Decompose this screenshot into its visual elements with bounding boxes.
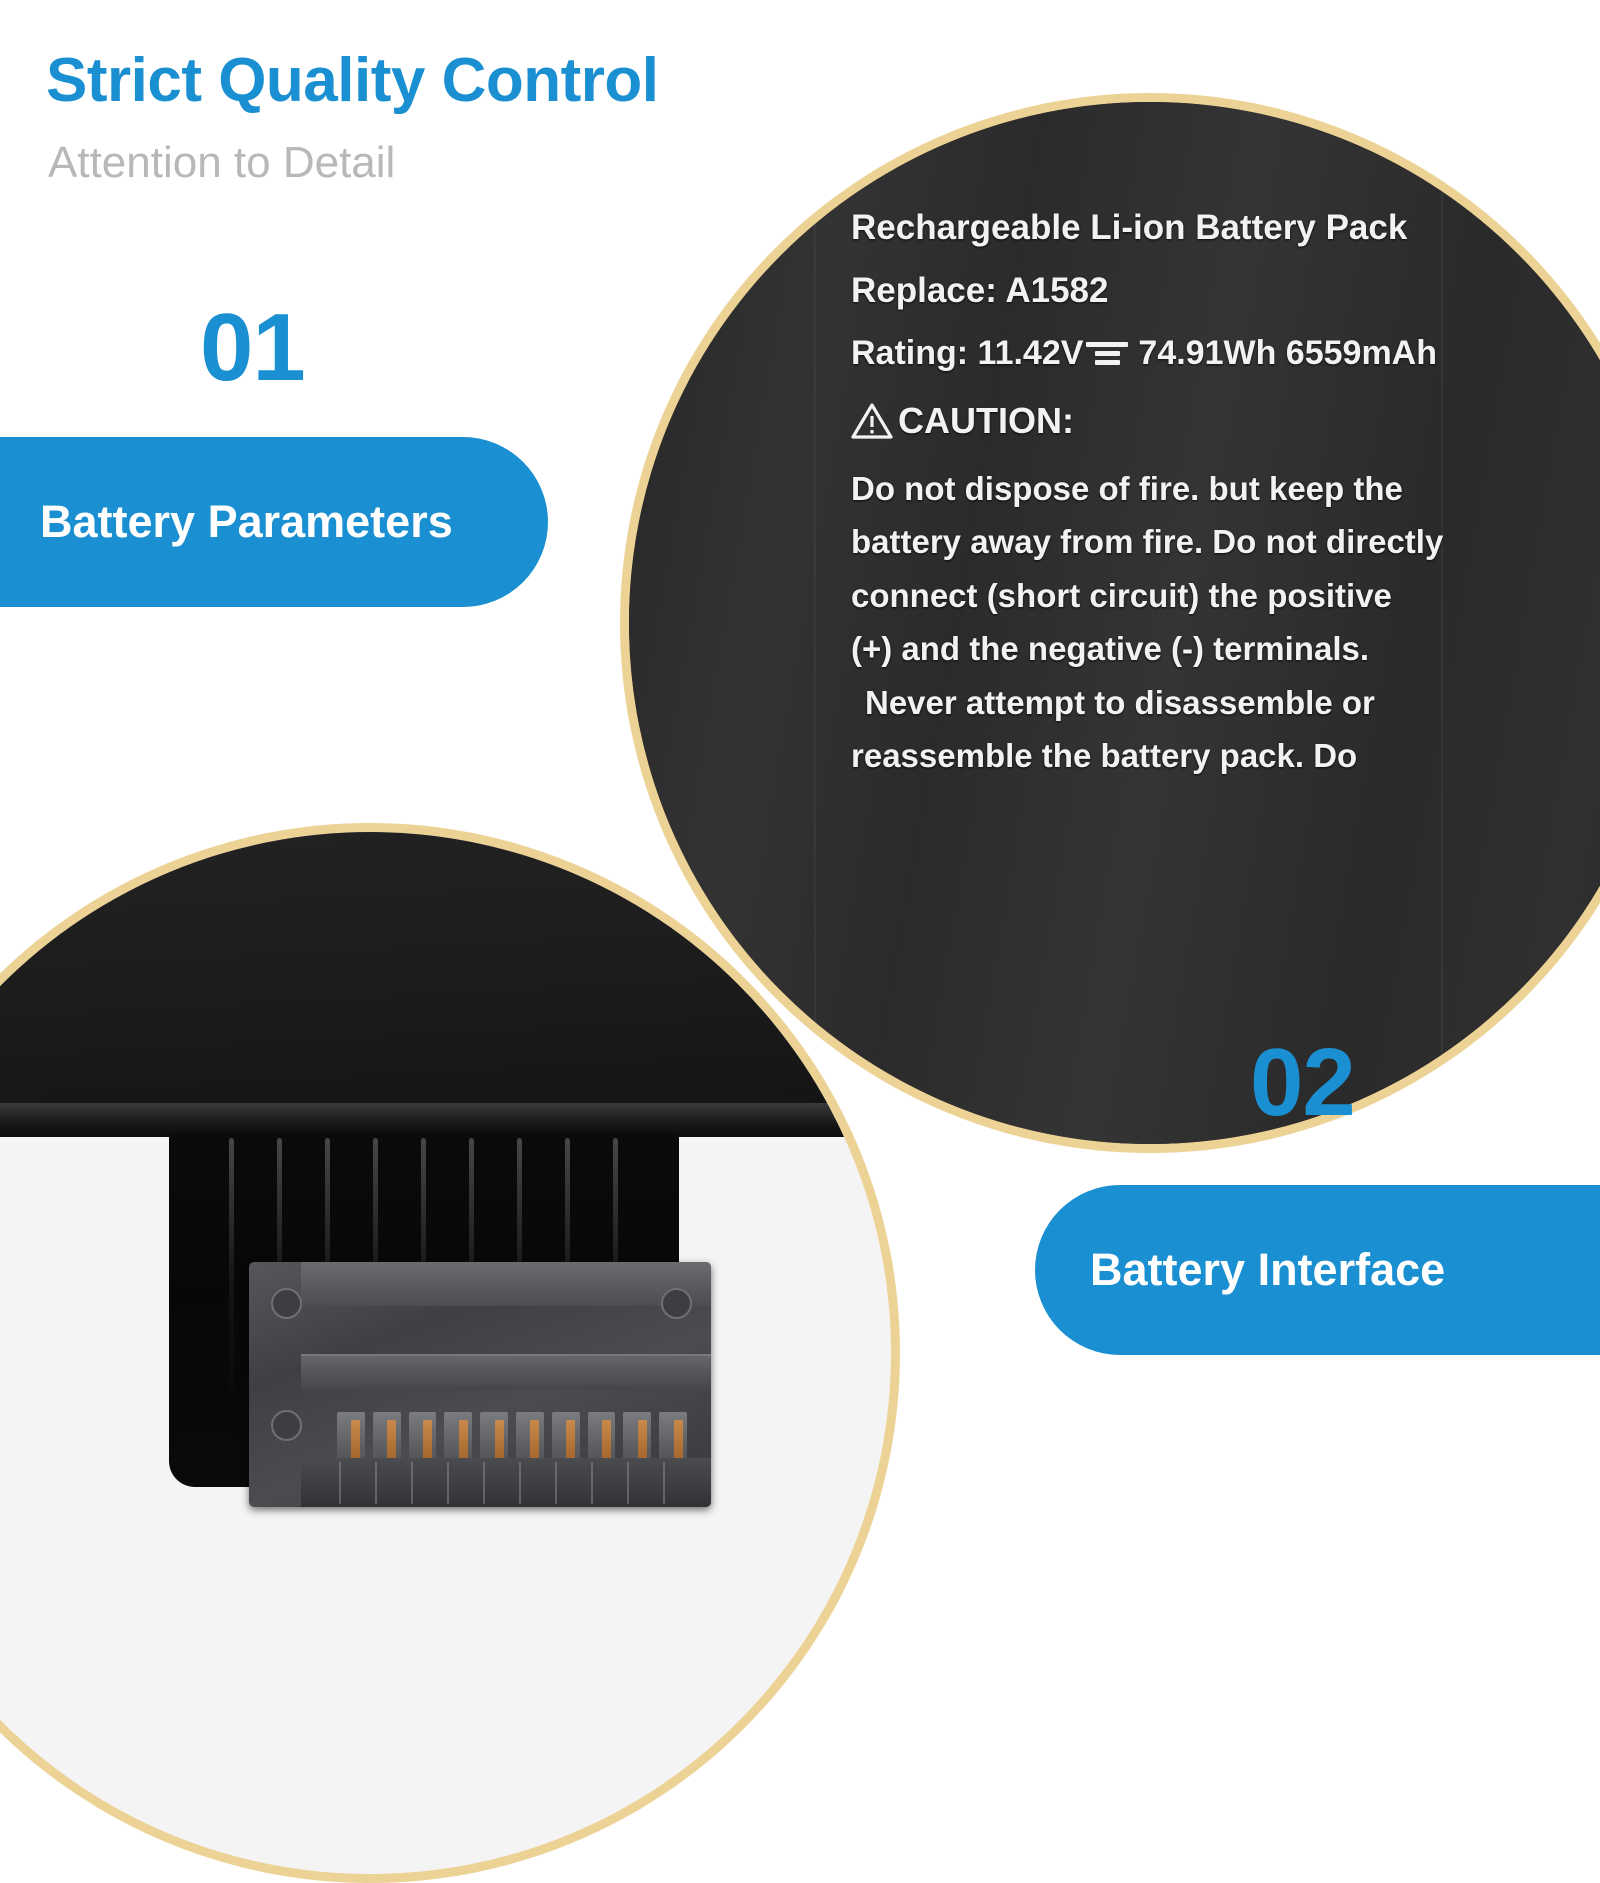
- section-01-number: 01: [200, 300, 305, 396]
- battery-body-surface: [0, 832, 891, 1103]
- page-subtitle: Attention to Detail: [48, 138, 395, 188]
- connector-skirt: [301, 1458, 711, 1507]
- warning-triangle-icon: [851, 402, 893, 440]
- battery-product-line: Rechargeable Li-ion Battery Pack: [851, 210, 1491, 245]
- connector-screw-bottom-left: [271, 1410, 302, 1441]
- caution-line-2: battery away from fire. Do not directly: [851, 515, 1491, 568]
- section-02-pill-label: Battery Interface: [1090, 1244, 1445, 1296]
- caution-line-4: (+) and the negative (-) terminals.: [851, 622, 1491, 675]
- section-01-pill-label: Battery Parameters: [40, 496, 453, 548]
- caution-line-3: connect (short circuit) the positive: [851, 569, 1491, 622]
- dc-current-icon: [1086, 342, 1128, 365]
- connector-screw-top-right: [661, 1288, 692, 1319]
- battery-rating-prefix: Rating: 11.42V: [851, 336, 1083, 370]
- connector-top-bar: [301, 1262, 711, 1306]
- caution-word: CAUTION:: [898, 400, 1074, 442]
- section-01-pill[interactable]: Battery Parameters: [0, 437, 548, 607]
- battery-replace-line: Replace: A1582: [851, 273, 1491, 308]
- battery-connector: [249, 1262, 711, 1507]
- battery-rating-line: Rating: 11.42V 74.91Wh 6559mAh: [851, 336, 1491, 370]
- section-02-number: 02: [1250, 1035, 1355, 1131]
- caution-heading-row: CAUTION:: [851, 400, 1491, 442]
- section-02-pill[interactable]: Battery Interface: [1035, 1185, 1600, 1355]
- caution-line-1: Do not dispose of fire. but keep the: [851, 462, 1491, 515]
- connector-mid-bar: [301, 1354, 711, 1390]
- battery-interface-photo: [0, 832, 891, 1874]
- battery-label-text-block: Rechargeable Li-ion Battery Pack Replace…: [851, 210, 1491, 783]
- caution-line-6: reassemble the battery pack. Do: [851, 729, 1491, 782]
- battery-rating-suffix: 74.91Wh 6559mAh: [1138, 336, 1437, 370]
- page-title: Strict Quality Control: [46, 45, 658, 116]
- connector-screw-top-left: [271, 1288, 302, 1319]
- caution-line-5: Never attempt to disassemble or: [851, 676, 1491, 729]
- battery-interface-photo-circle: [0, 823, 900, 1883]
